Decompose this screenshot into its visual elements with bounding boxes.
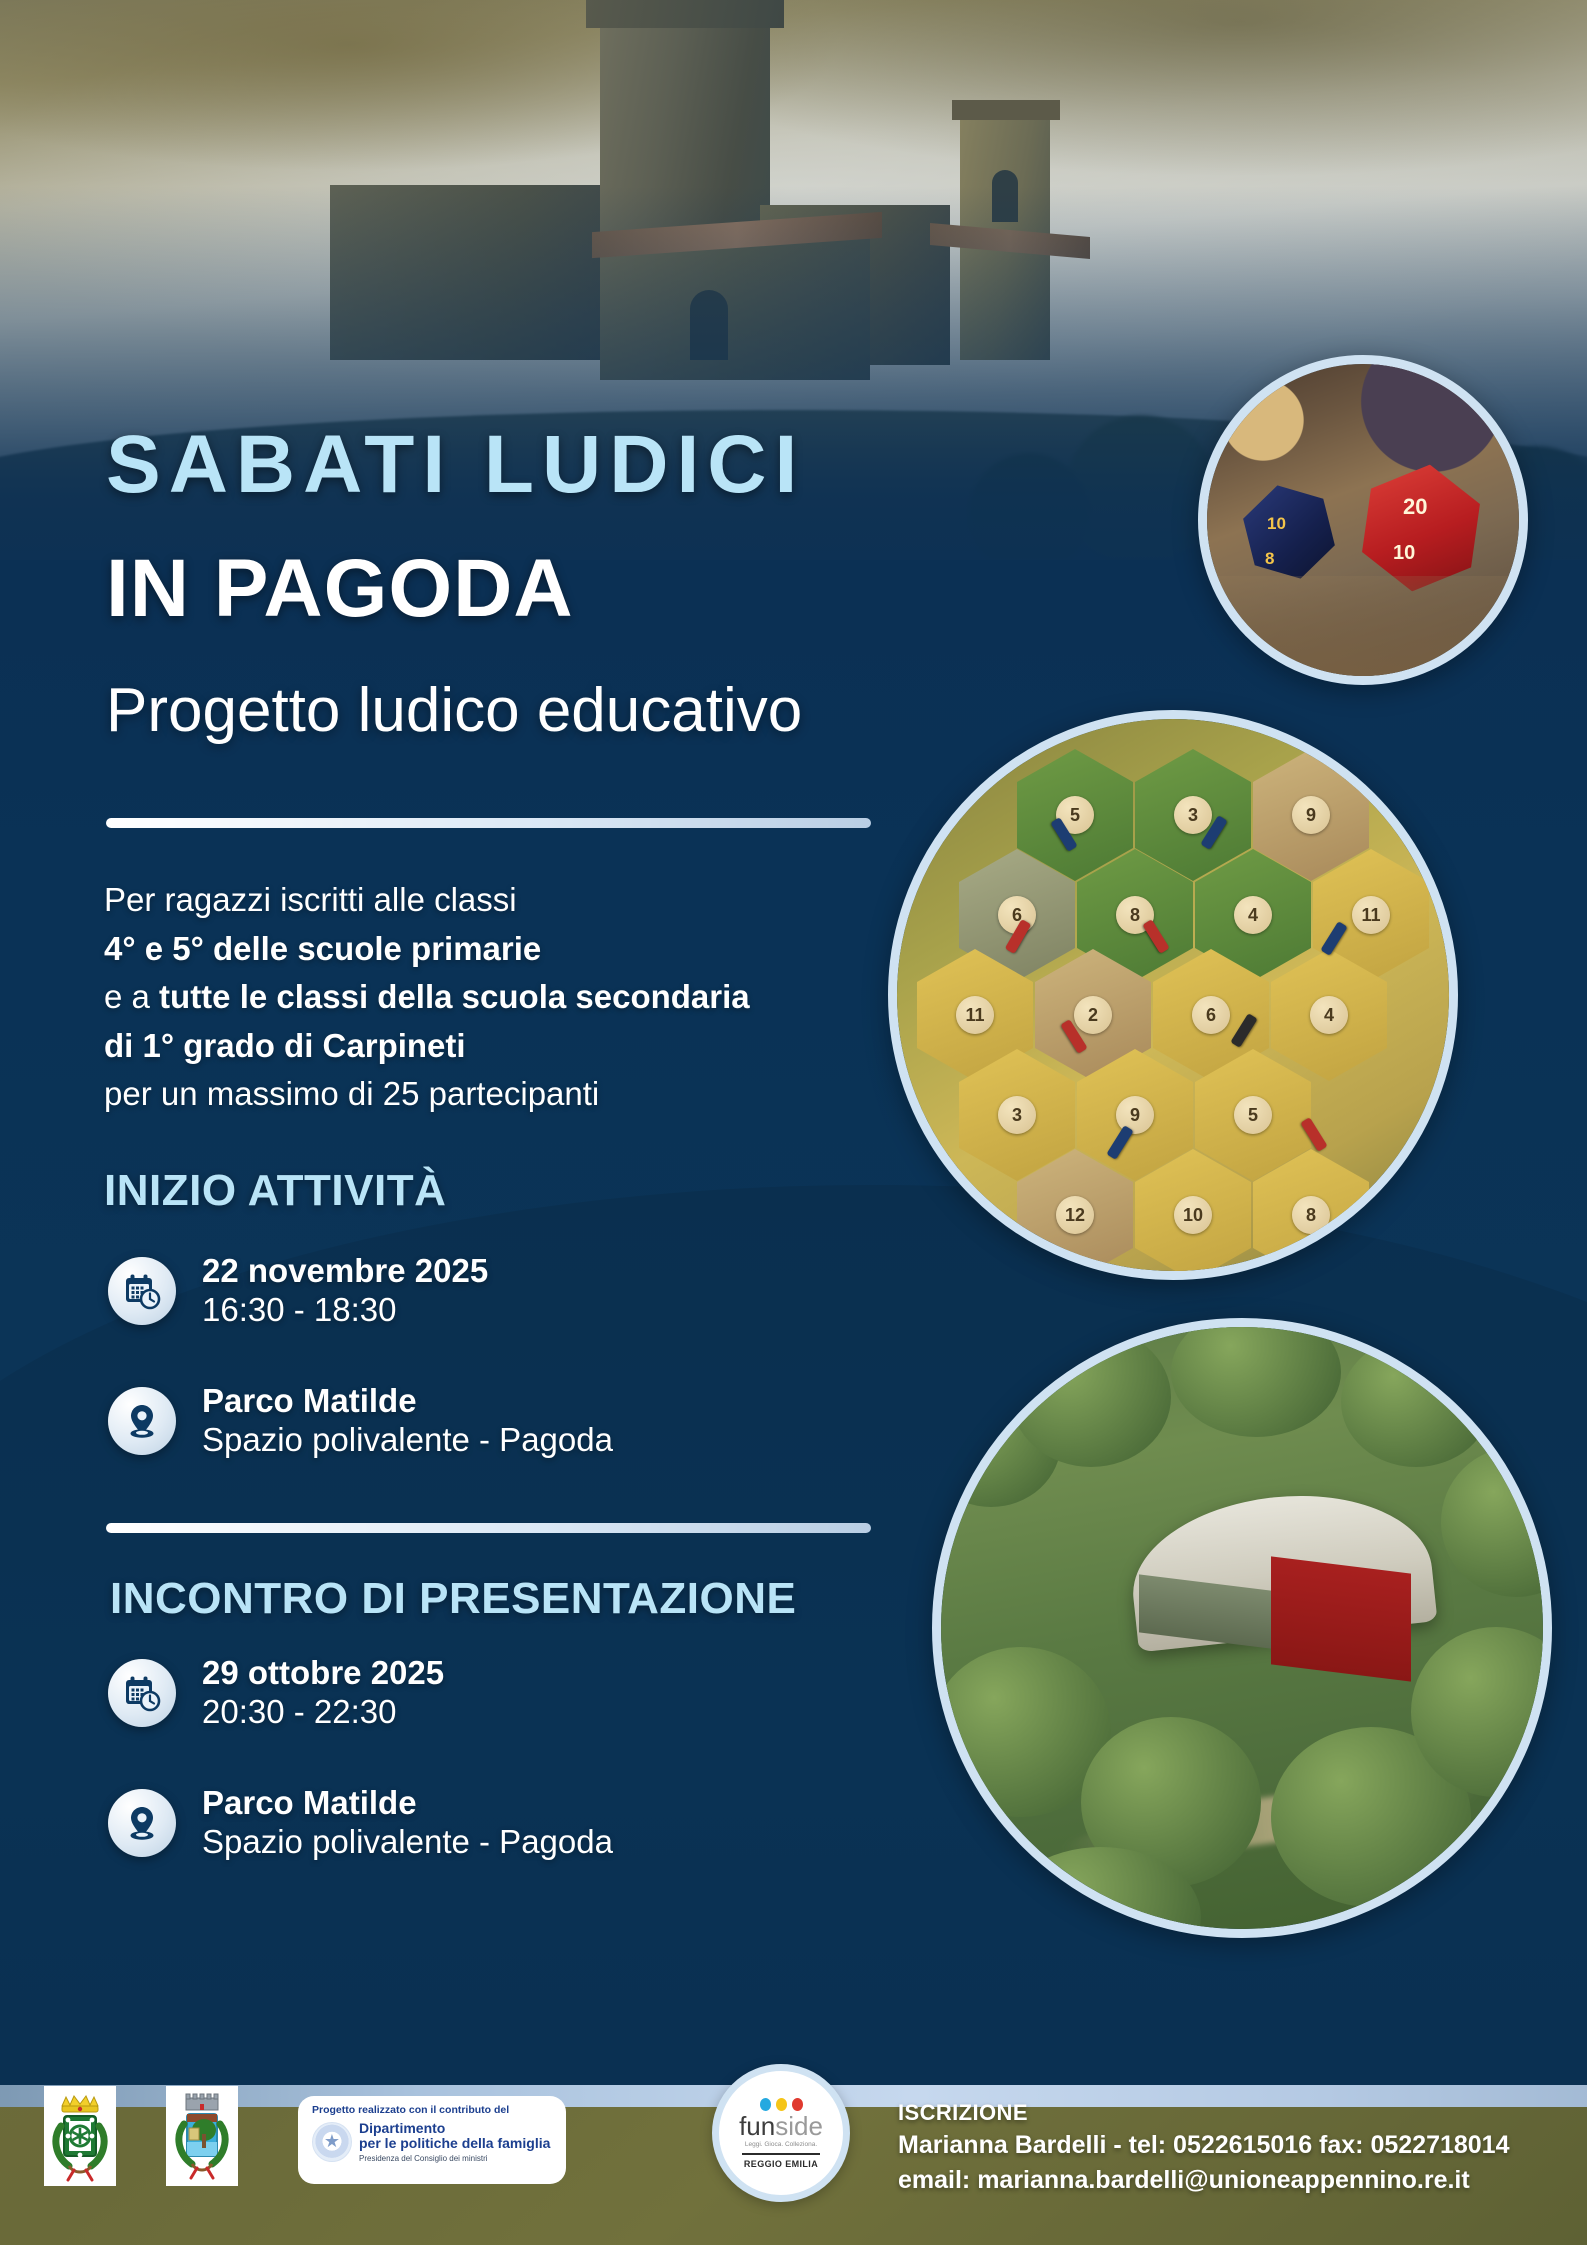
stemma-comune-2-icon [166, 2086, 238, 2186]
funside-city: REGGIO EMILIA [744, 2159, 818, 2169]
description-paragraph: Per ragazzi iscritti alle classi 4° e 5°… [104, 876, 750, 1119]
event-place-row-2: Parco Matilde Spazio polivalente - Pagod… [108, 1784, 613, 1862]
contact-block: ISCRIZIONE Marianna Bardelli - tel: 0522… [898, 2098, 1510, 2197]
location-pin-icon [108, 1387, 176, 1455]
poster-content: SABATI LUDICI IN PAGODA Progetto ludico … [0, 0, 1587, 2245]
event-place-name-2: Parco Matilde [202, 1784, 613, 1823]
contact-line-1: Marianna Bardelli - tel: 0522615016 fax:… [898, 2128, 1510, 2163]
section-heading-incontro-presentazione: INCONTRO DI PRESENTAZIONE [110, 1574, 796, 1624]
page-tagline: Progetto ludico educativo [106, 680, 802, 742]
funside-logo: funside Leggi. Gioca. Colleziona. REGGIO… [712, 2064, 850, 2202]
funside-dots-icon [760, 2098, 803, 2111]
event-place-text-2: Parco Matilde Spazio polivalente - Pagod… [202, 1784, 613, 1862]
location-pin-icon [108, 1789, 176, 1857]
dipartimento-badge: Progetto realizzato con il contributo de… [298, 2096, 566, 2184]
event-time-1: 16:30 - 18:30 [202, 1291, 488, 1330]
dipartimento-name-line2: per le politiche della famiglia [359, 2136, 550, 2152]
description-line-3-plain: e a [104, 978, 159, 1015]
description-line-3-bold: tutte le classi della scuola secondaria [159, 978, 750, 1015]
calendar-clock-icon [108, 1257, 176, 1325]
dipartimento-names: Dipartimento per le politiche della fami… [359, 2121, 550, 2163]
description-line-5: per un massimo di 25 partecipanti [104, 1070, 750, 1119]
stemma-comune-1-icon [44, 2086, 116, 2186]
event-date-text-1: 22 novembre 2025 16:30 - 18:30 [202, 1252, 488, 1330]
event-place-detail-2: Spazio polivalente - Pagoda [202, 1823, 613, 1862]
calendar-clock-icon [108, 1659, 176, 1727]
funside-word-a: fun [739, 2111, 775, 2141]
dipartimento-body: Dipartimento per le politiche della fami… [312, 2121, 554, 2163]
event-date-text-2: 29 ottobre 2025 20:30 - 22:30 [202, 1654, 444, 1732]
poster: 10 8 20 10 5 3 9 6 8 4 11 11 2 6 4 3 9 5… [0, 0, 1587, 2245]
italian-republic-emblem-icon [312, 2122, 352, 2162]
event-place-text-1: Parco Matilde Spazio polivalente - Pagod… [202, 1382, 613, 1460]
event-place-detail-1: Spazio polivalente - Pagoda [202, 1421, 613, 1460]
section-heading-inizio-attivita: INIZIO ATTIVITÀ [104, 1166, 446, 1216]
funside-word-b: side [775, 2111, 823, 2141]
event-place-name-1: Parco Matilde [202, 1382, 613, 1421]
event-date-row-2: 29 ottobre 2025 20:30 - 22:30 [108, 1654, 444, 1732]
event-date-2: 29 ottobre 2025 [202, 1654, 444, 1693]
description-line-1: Per ragazzi iscritti alle classi [104, 876, 750, 925]
event-place-row-1: Parco Matilde Spazio polivalente - Pagod… [108, 1382, 613, 1460]
divider-top [106, 818, 871, 828]
description-line-2: 4° e 5° delle scuole primarie [104, 930, 541, 967]
event-time-2: 20:30 - 22:30 [202, 1693, 444, 1732]
funside-divider [742, 2153, 820, 2155]
event-date-1: 22 novembre 2025 [202, 1252, 488, 1291]
funside-wordmark: funside [739, 2113, 823, 2139]
funside-tagline: Leggi. Gioca. Colleziona. [745, 2141, 817, 2148]
divider-middle [106, 1523, 871, 1533]
dipartimento-name-line1: Dipartimento [359, 2121, 550, 2137]
contact-line-2: email: marianna.bardelli@unioneappennino… [898, 2163, 1510, 2198]
dipartimento-top-line: Progetto realizzato con il contributo de… [312, 2105, 554, 2117]
dipartimento-sub-line: Presidenza del Consiglio dei ministri [359, 2154, 550, 2163]
contact-heading: ISCRIZIONE [898, 2098, 1510, 2128]
page-title-line1: SABATI LUDICI [106, 424, 805, 506]
page-title-line2: IN PAGODA [106, 548, 574, 630]
description-line-4: di 1° grado di Carpineti [104, 1027, 466, 1064]
event-date-row-1: 22 novembre 2025 16:30 - 18:30 [108, 1252, 488, 1330]
